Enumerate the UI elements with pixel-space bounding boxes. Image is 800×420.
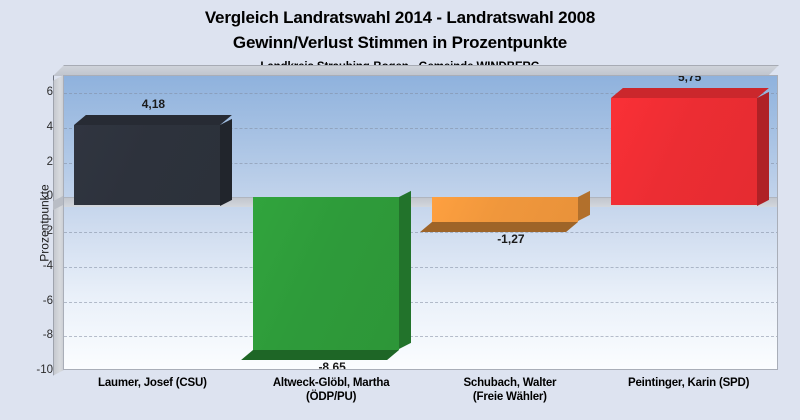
gridline <box>64 232 778 233</box>
bar-front-face <box>432 197 578 221</box>
bar-front-face <box>74 125 220 206</box>
x-axis-label-line: Schubach, Walter <box>421 376 600 390</box>
x-axis-category-3: Schubach, Walter(Freie Wähler) <box>421 376 600 404</box>
x-axis-label-line: (Freie Wähler) <box>421 390 600 404</box>
x-axis-category-2: Altweck-Glöbl, Martha(ÖDP/PU) <box>242 376 421 404</box>
x-axis-label-line: Altweck-Glöbl, Martha <box>242 376 421 390</box>
bar-value-label: -8,65 <box>253 360 411 370</box>
x-axis-label-line: Laumer, Josef (CSU) <box>63 376 242 390</box>
page-title-line-2: Gewinn/Verlust Stimmen in Prozentpunkte <box>0 30 800 55</box>
gridline <box>64 267 778 268</box>
plot-canvas: 4,18-8,65-1,275,75 <box>63 75 778 370</box>
bar-top-face <box>74 115 232 125</box>
bar-top-face <box>611 88 769 98</box>
x-axis-label-line: (ÖDP/PU) <box>242 390 421 404</box>
x-axis-label-line: Peintinger, Karin (SPD) <box>599 376 778 390</box>
bar-front-face <box>253 197 399 349</box>
chart-header: Vergleich Landratswahl 2014 - Landratswa… <box>0 0 800 73</box>
bar-side-face <box>578 191 590 221</box>
bar-1[interactable] <box>74 125 220 206</box>
bar-value-label: -1,27 <box>432 232 590 246</box>
x-axis-category-4: Peintinger, Karin (SPD) <box>599 376 778 390</box>
x-axis-category-1: Laumer, Josef (CSU) <box>63 376 242 390</box>
bar-value-label: 4,18 <box>74 97 232 111</box>
y-axis-tick-label: -10 <box>36 364 53 376</box>
y-axis-tick-label: -8 <box>43 329 53 341</box>
bar-front-face <box>611 98 757 206</box>
chart-plot-area: 4,18-8,65-1,275,75 <box>63 75 778 370</box>
bar-bottom-face <box>420 222 578 232</box>
x-axis-labels: Laumer, Josef (CSU)Altweck-Glöbl, Martha… <box>63 376 778 420</box>
bar-4[interactable] <box>611 98 757 206</box>
bar-value-label: 5,75 <box>611 75 769 84</box>
bar-3[interactable] <box>432 197 578 221</box>
gridline <box>64 336 778 337</box>
y-axis-tick-label: -6 <box>43 295 53 307</box>
y-axis-tick-label: -4 <box>43 260 53 272</box>
gridline <box>64 302 778 303</box>
bar-bottom-face <box>241 350 399 360</box>
bar-side-face <box>399 191 411 349</box>
bar-2[interactable] <box>253 197 399 349</box>
page-title-line-1: Vergleich Landratswahl 2014 - Landratswa… <box>0 5 800 30</box>
bar-side-face <box>220 119 232 206</box>
bar-side-face <box>757 92 769 206</box>
y-axis-tick-label: -2 <box>43 225 53 237</box>
